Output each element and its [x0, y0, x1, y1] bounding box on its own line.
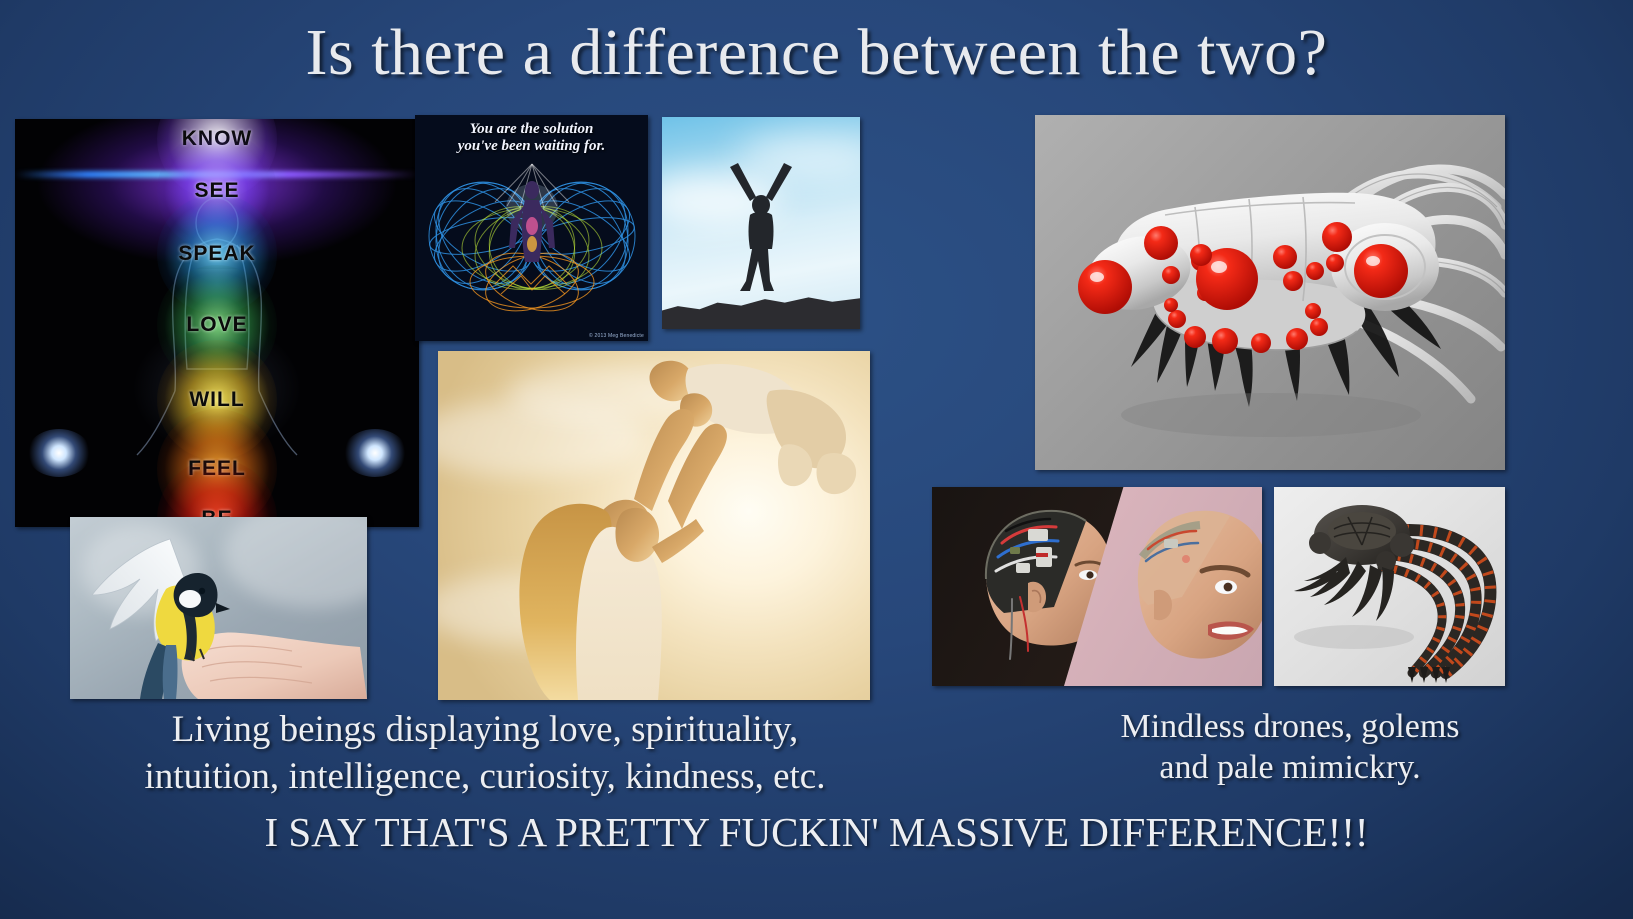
- image-mother-lifting-child-photo: [438, 351, 870, 700]
- image-chakra-body-poster: KNOW SEE SPEAK LOVE WILL FEEL BE: [15, 119, 419, 527]
- solution-credit: © 2013 Meg Benedicte: [589, 333, 644, 339]
- caption-machines: Mindless drones, golems and pale mimickr…: [960, 706, 1620, 789]
- image-humanoid-robot-heads-photo: [932, 487, 1262, 686]
- meme-canvas: Is there a difference between the two?: [0, 0, 1633, 919]
- chakra-node-speak: SPEAK: [157, 242, 277, 266]
- image-you-are-the-solution-poster: You are the solution you've been waiting…: [415, 115, 648, 341]
- caption-living-beings: Living beings displaying love, spiritual…: [10, 706, 960, 801]
- image-bird-on-hand-photo: [70, 517, 367, 699]
- solution-energy-rings: [417, 144, 647, 334]
- chakra-hand-light-right: [343, 429, 407, 477]
- mother-child-silhouette: [438, 351, 870, 700]
- image-white-drone-creature-render: [1035, 115, 1505, 470]
- chakra-node-love: LOVE: [157, 313, 277, 337]
- caption-right-line-2: and pale mimickry.: [960, 747, 1620, 788]
- chakra-hand-light-left: [27, 429, 91, 477]
- caption-left-line-2: intuition, intelligence, curiosity, kind…: [10, 753, 960, 800]
- victory-figure-silhouette: [716, 161, 806, 291]
- bird-and-hand-svg: [70, 517, 367, 699]
- image-black-mechanical-crawler-photo: [1274, 487, 1505, 686]
- page-title: Is there a difference between the two?: [0, 20, 1633, 86]
- drone-creature-svg: [1035, 115, 1505, 470]
- caption-punchline: I SAY THAT'S A PRETTY FUCKIN' MASSIVE DI…: [0, 808, 1633, 856]
- caption-right-line-1: Mindless drones, golems: [960, 706, 1620, 747]
- crawler-svg: [1274, 487, 1505, 686]
- image-silhouette-arms-raised-photo: [662, 117, 860, 329]
- solution-caption: You are the solution you've been waiting…: [415, 121, 648, 156]
- caption-left-line-1: Living beings displaying love, spiritual…: [10, 706, 960, 753]
